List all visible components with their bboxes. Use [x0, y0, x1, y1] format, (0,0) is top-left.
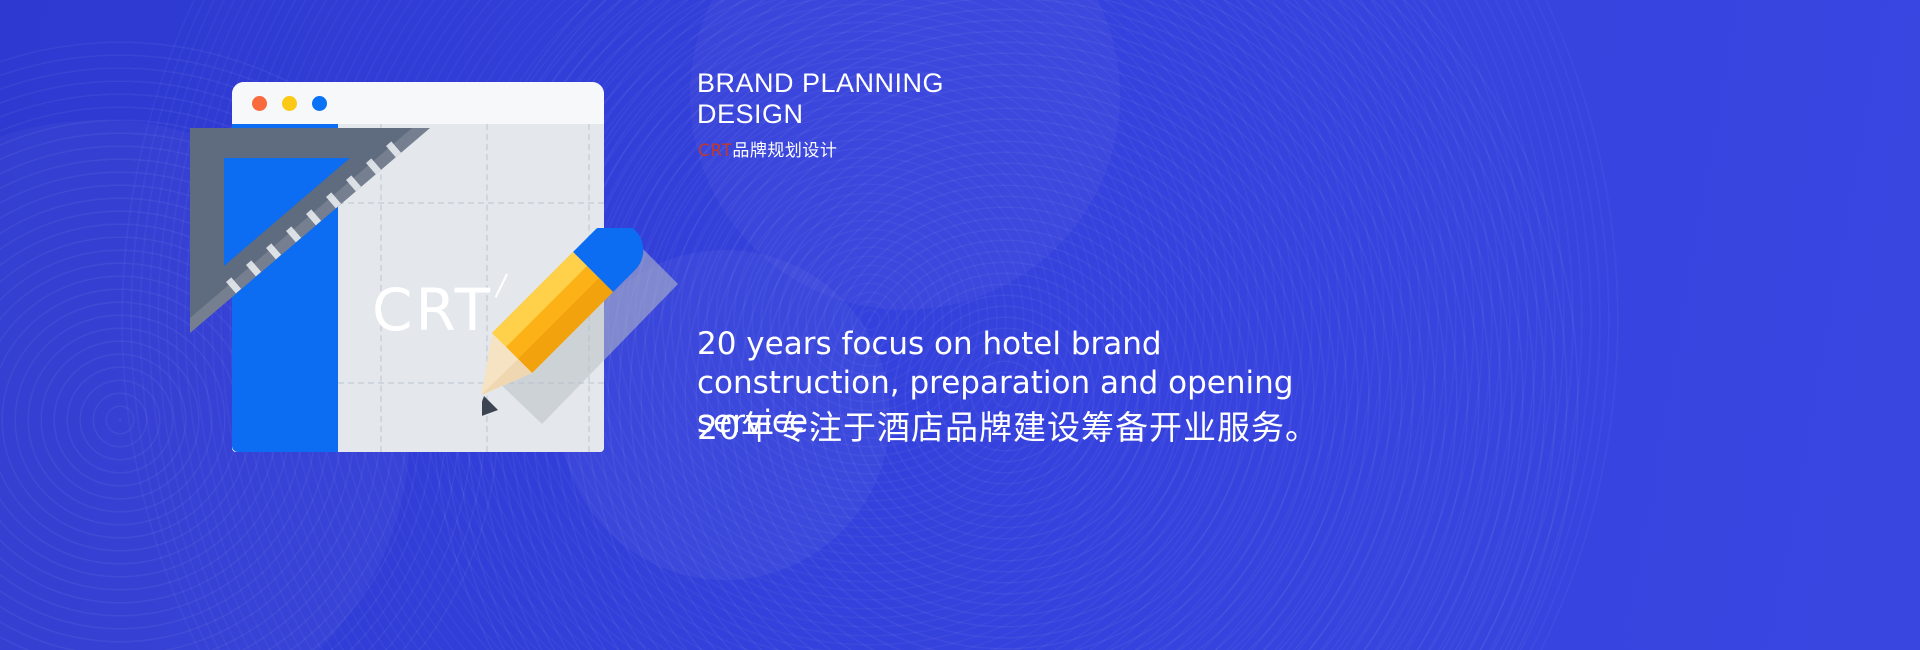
- hero-illustration: CRT: [0, 0, 700, 650]
- text-content: BRAND PLANNING DESIGN CRT品牌规划设计 20 years…: [697, 0, 1920, 650]
- eyebrow-subtitle-cn: 品牌规划设计: [732, 141, 837, 161]
- browser-title-bar: [232, 82, 604, 124]
- headline-chinese: 20年专注于酒店品牌建设筹备开业服务。: [697, 407, 1319, 449]
- pencil-icon: [482, 228, 682, 438]
- eyebrow-title: BRAND PLANNING DESIGN: [697, 68, 944, 130]
- eyebrow-subtitle-accent: CRT: [698, 141, 732, 161]
- minimize-dot: [282, 96, 297, 111]
- triangle-ruler-icon: [190, 128, 430, 333]
- banner-stage: CRT: [0, 0, 1920, 650]
- maximize-dot: [312, 96, 327, 111]
- eyebrow-subtitle: CRT品牌规划设计: [698, 139, 837, 163]
- close-dot: [252, 96, 267, 111]
